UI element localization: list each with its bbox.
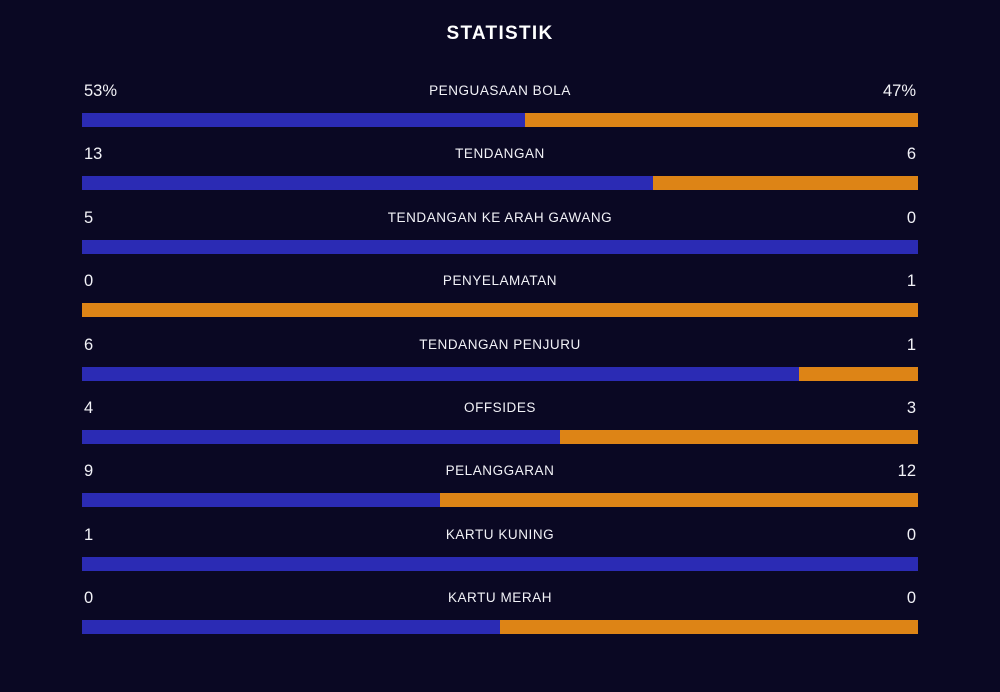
stat-bar-away xyxy=(82,240,918,254)
stat-label: TENDANGAN xyxy=(82,139,918,169)
stat-bar-home xyxy=(82,557,918,571)
away-value: 0 xyxy=(907,583,916,613)
stat-label: PENYELAMATAN xyxy=(82,266,918,296)
stat-row: 5TENDANGAN KE ARAH GAWANG0 xyxy=(82,203,918,266)
stat-bar-away xyxy=(82,430,918,444)
stat-row-header: 1KARTU KUNING0 xyxy=(82,520,918,550)
away-value: 0 xyxy=(907,203,916,233)
stat-row: 13TENDANGAN6 xyxy=(82,139,918,202)
stat-bar-away xyxy=(82,367,918,381)
match-statistics-panel: STATISTIK 53%PENGUASAAN BOLA47%13TENDANG… xyxy=(0,0,1000,692)
stat-bar-home xyxy=(82,493,440,507)
page-title: STATISTIK xyxy=(0,23,1000,45)
stat-label: PENGUASAAN BOLA xyxy=(82,76,918,106)
stat-label: PELANGGARAN xyxy=(82,456,918,486)
stat-row: 0PENYELAMATAN1 xyxy=(82,266,918,329)
stat-row: 53%PENGUASAAN BOLA47% xyxy=(82,76,918,139)
stat-row-header: 0KARTU MERAH0 xyxy=(82,583,918,613)
stat-bar-away xyxy=(82,176,918,190)
stat-label: TENDANGAN KE ARAH GAWANG xyxy=(82,203,918,233)
stat-bar-home xyxy=(82,176,653,190)
stat-bar-away xyxy=(82,493,918,507)
away-value: 1 xyxy=(907,266,916,296)
away-value: 12 xyxy=(898,456,916,486)
statistics-rows-list: 53%PENGUASAAN BOLA47%13TENDANGAN65TENDAN… xyxy=(82,76,918,647)
stat-row-header: 0PENYELAMATAN1 xyxy=(82,266,918,296)
away-value: 47% xyxy=(883,76,916,106)
stat-bar-home xyxy=(82,430,560,444)
stat-bar-away xyxy=(82,303,918,317)
stat-label: OFFSIDES xyxy=(82,393,918,423)
stat-row: 6TENDANGAN PENJURU1 xyxy=(82,330,918,393)
stat-row: 9PELANGGARAN12 xyxy=(82,456,918,519)
stat-bar-away xyxy=(82,620,918,634)
stat-bar-home xyxy=(82,367,799,381)
stat-bar-home xyxy=(82,113,525,127)
away-value: 1 xyxy=(907,330,916,360)
stat-row-header: 9PELANGGARAN12 xyxy=(82,456,918,486)
stat-row-header: 13TENDANGAN6 xyxy=(82,139,918,169)
away-value: 0 xyxy=(907,520,916,550)
away-value: 3 xyxy=(907,393,916,423)
stat-bar-away xyxy=(82,557,918,571)
stat-row-header: 4OFFSIDES3 xyxy=(82,393,918,423)
stat-row: 4OFFSIDES3 xyxy=(82,393,918,456)
stat-label: KARTU KUNING xyxy=(82,520,918,550)
stat-row: 1KARTU KUNING0 xyxy=(82,520,918,583)
stat-row: 0KARTU MERAH0 xyxy=(82,583,918,646)
stat-bar-home xyxy=(82,620,500,634)
stat-label: TENDANGAN PENJURU xyxy=(82,330,918,360)
stat-row-header: 5TENDANGAN KE ARAH GAWANG0 xyxy=(82,203,918,233)
stat-row-header: 53%PENGUASAAN BOLA47% xyxy=(82,76,918,106)
stat-label: KARTU MERAH xyxy=(82,583,918,613)
away-value: 6 xyxy=(907,139,916,169)
stat-bar-home xyxy=(82,240,918,254)
stat-row-header: 6TENDANGAN PENJURU1 xyxy=(82,330,918,360)
stat-bar-away xyxy=(82,113,918,127)
